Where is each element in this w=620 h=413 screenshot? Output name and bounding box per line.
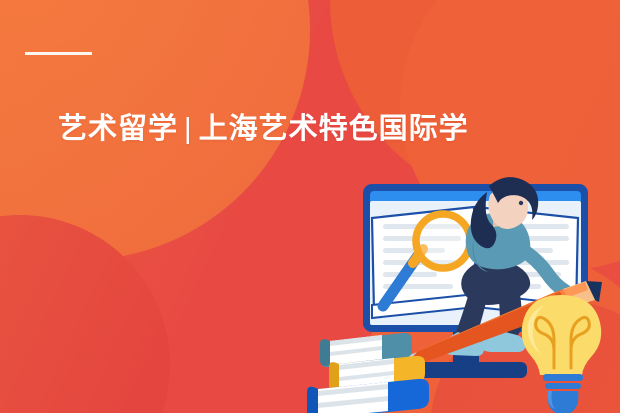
book-stack xyxy=(307,333,429,413)
online-learning-illustration xyxy=(0,0,620,413)
light-bulb-icon xyxy=(522,295,602,413)
bulb-base xyxy=(543,374,583,413)
book-bottom xyxy=(307,379,429,413)
bulb-glass xyxy=(522,295,602,375)
promo-banner: 艺术留学|上海艺术特色国际学 xyxy=(0,0,620,413)
